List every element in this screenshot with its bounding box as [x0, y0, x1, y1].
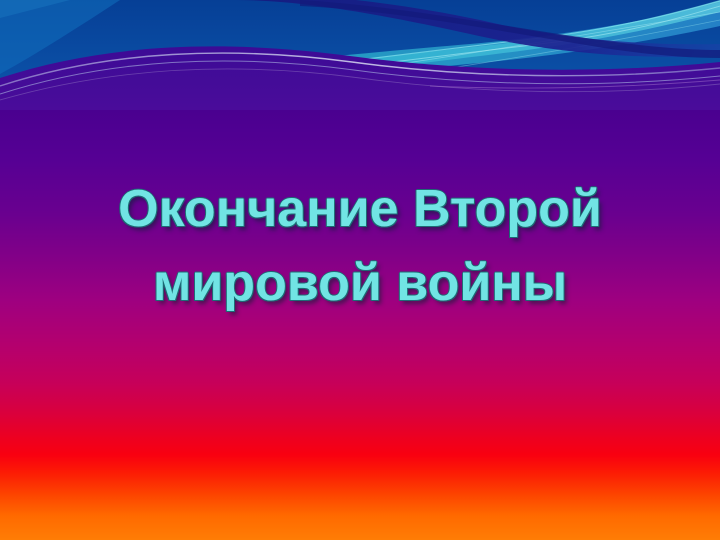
title-line-2: мировой войны: [0, 246, 720, 320]
flowing-ribbon-wave-decoration: [0, 0, 720, 110]
page-title: Окончание Второй мировой войны: [0, 172, 720, 320]
title-line-1: Окончание Второй: [0, 172, 720, 246]
presentation-slide: Окончание Второй мировой войны: [0, 0, 720, 540]
